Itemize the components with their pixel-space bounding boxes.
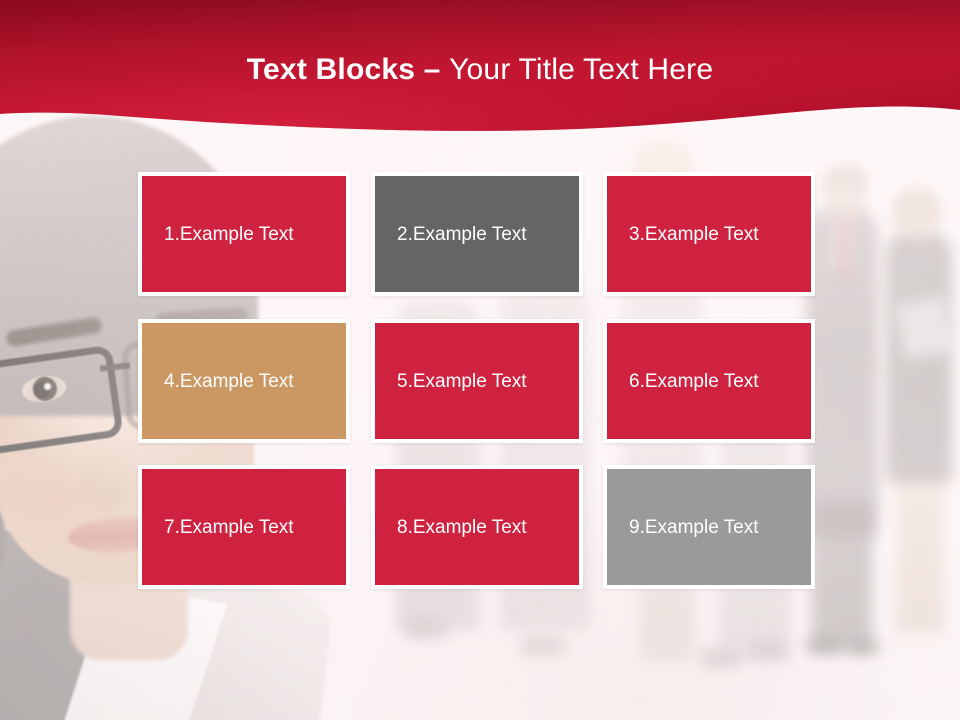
text-block-7[interactable]: 7.Example Text [138,465,350,589]
text-block-8[interactable]: 8.Example Text [371,465,583,589]
text-block-9-label: 9.Example Text [607,516,759,539]
text-block-4[interactable]: 4.Example Text [138,319,350,443]
text-block-1-label: 1.Example Text [142,223,294,246]
text-block-6-label: 6.Example Text [607,370,759,393]
presentation-slide: Text Blocks – Your Title Text Here 1.Exa… [0,0,960,720]
text-block-2-label: 2.Example Text [375,223,527,246]
text-block-8-label: 8.Example Text [375,516,527,539]
text-block-9[interactable]: 9.Example Text [603,465,815,589]
text-block-5-label: 5.Example Text [375,370,527,393]
text-block-7-label: 7.Example Text [142,516,294,539]
text-blocks-grid: 1.Example Text 2.Example Text 3.Example … [0,0,960,720]
text-block-3-label: 3.Example Text [607,223,759,246]
text-block-2[interactable]: 2.Example Text [371,172,583,296]
text-block-5[interactable]: 5.Example Text [371,319,583,443]
text-block-3[interactable]: 3.Example Text [603,172,815,296]
text-block-1[interactable]: 1.Example Text [138,172,350,296]
text-block-6[interactable]: 6.Example Text [603,319,815,443]
text-block-4-label: 4.Example Text [142,370,294,393]
